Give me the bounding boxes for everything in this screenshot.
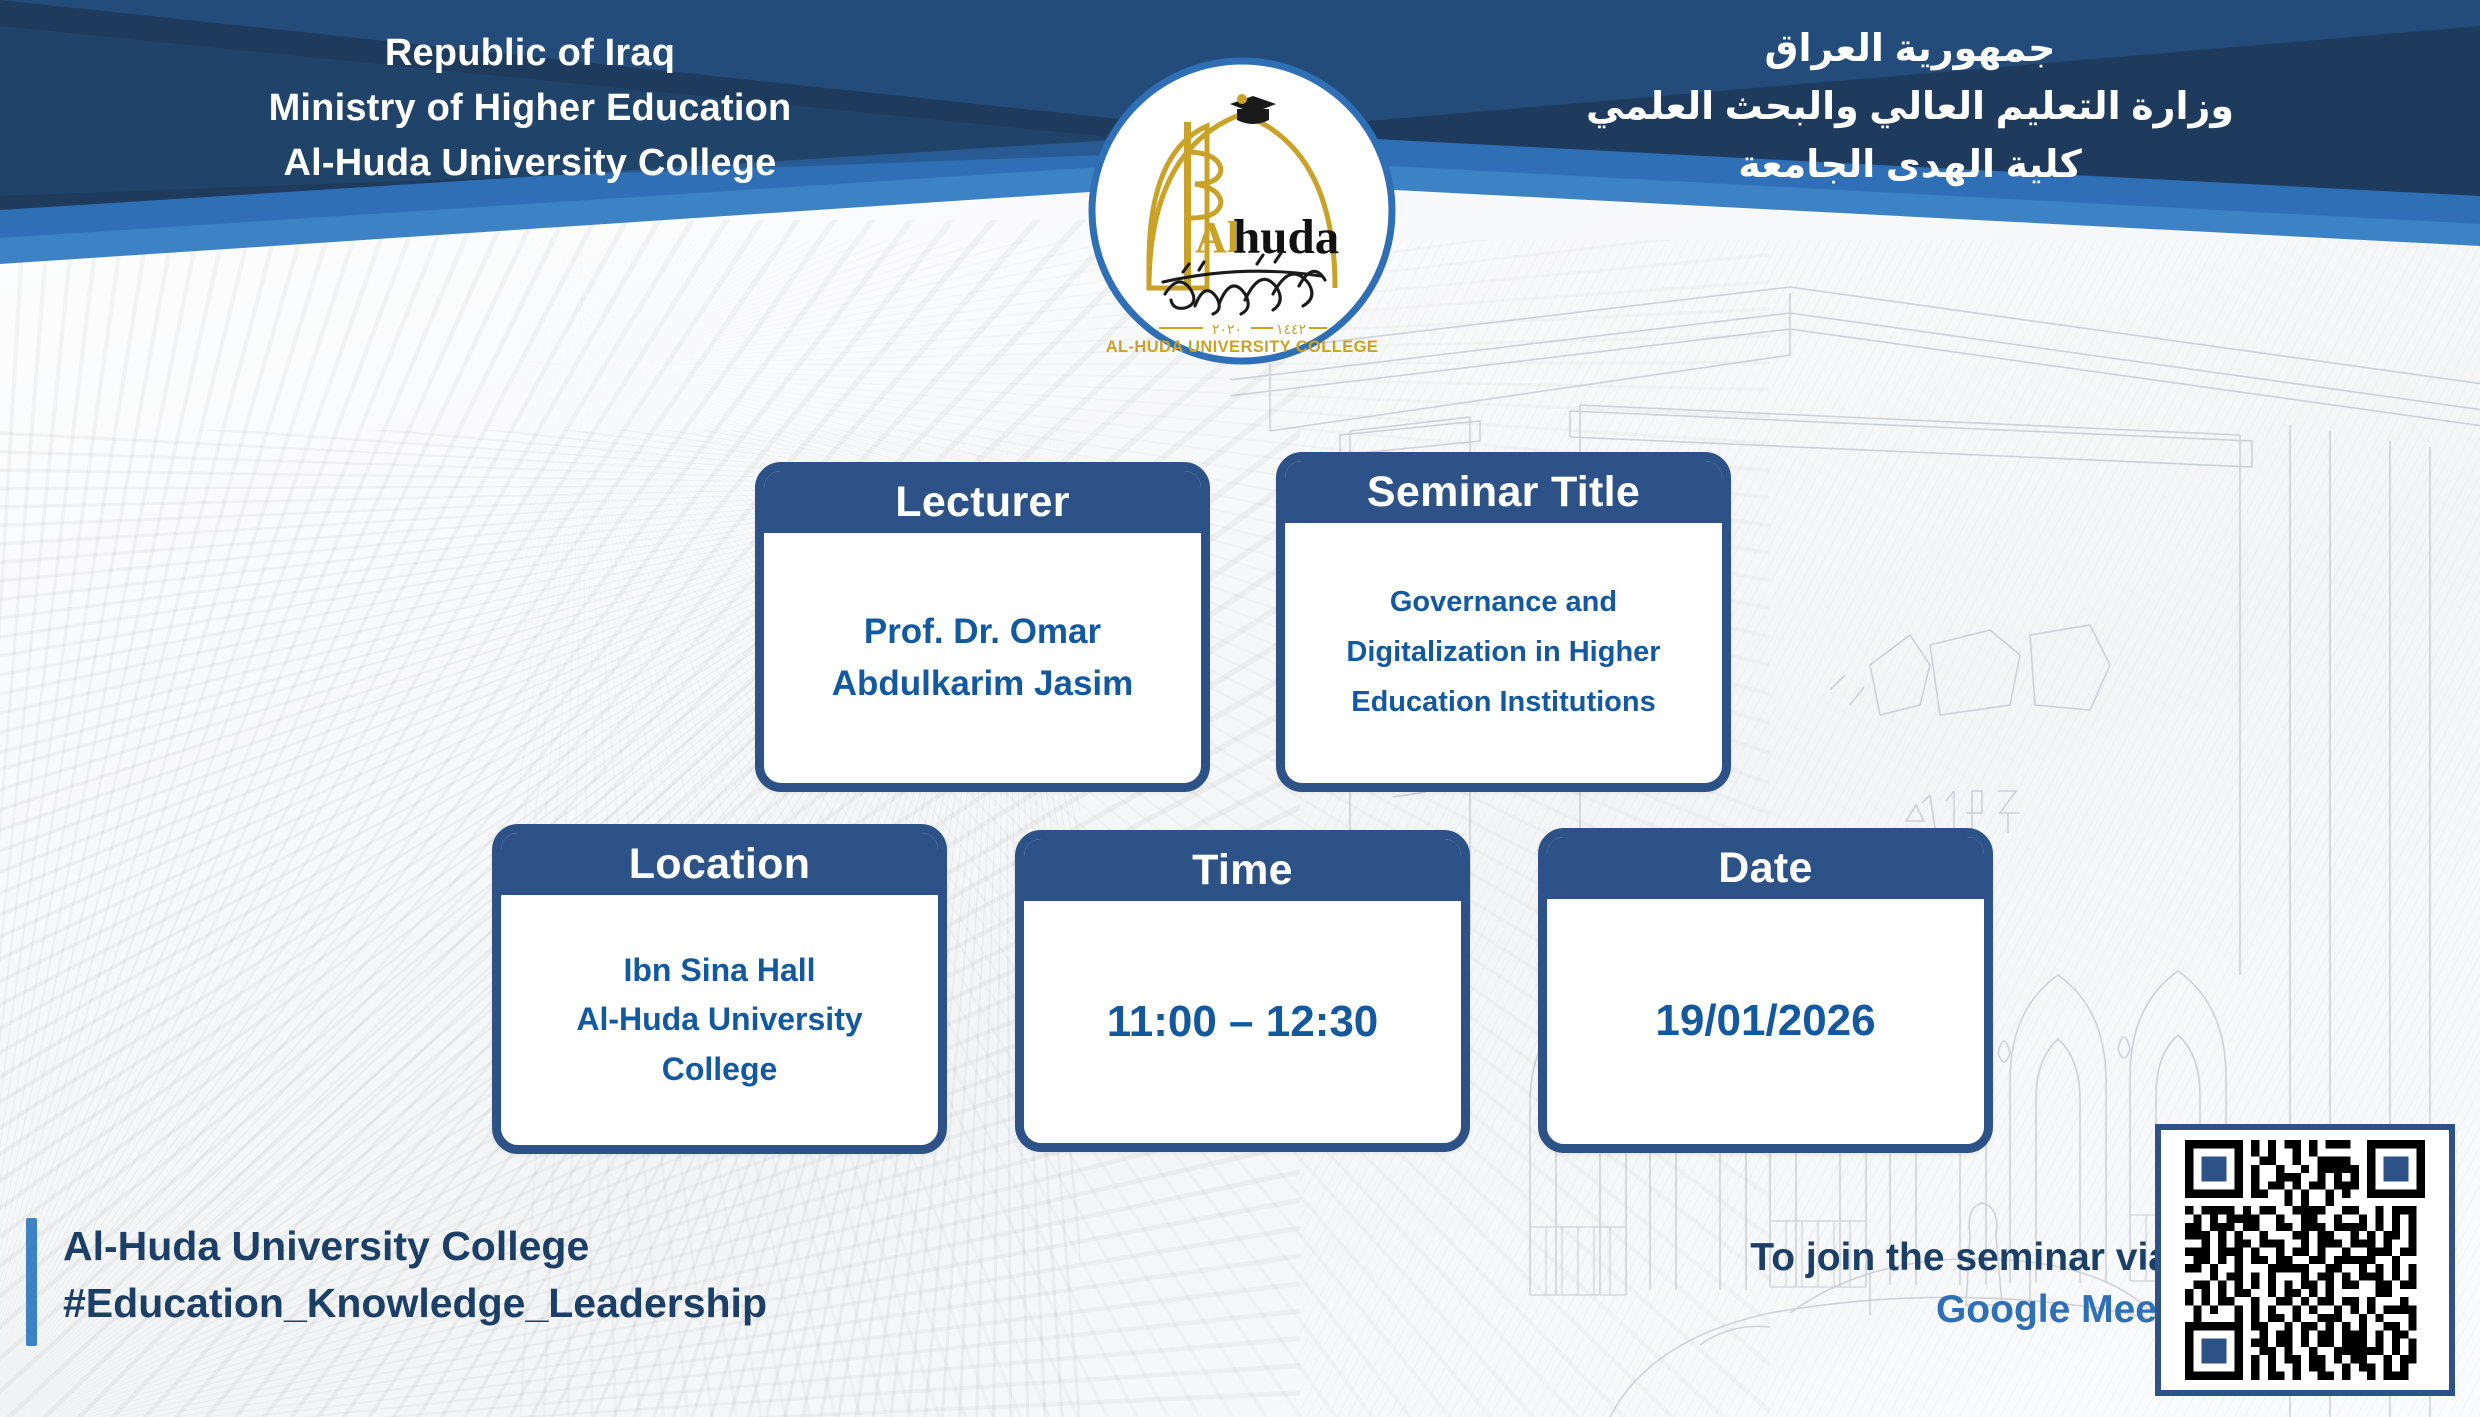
card-time-title: Time (1024, 839, 1461, 901)
card-lecturer-title: Lecturer (764, 471, 1201, 533)
card-lecturer-line-1: Prof. Dr. Omar (832, 606, 1134, 659)
card-location-title: Location (501, 833, 938, 895)
card-location: Location Ibn Sina Hall Al-Huda Universit… (492, 824, 947, 1154)
logo-subtitle: AL-HUDA UNIVERSITY COLLEGE (1106, 338, 1379, 356)
join-line-1: To join the seminar via (1470, 1232, 2170, 1284)
card-seminar-title: Seminar Title Governance and Digitalizat… (1276, 452, 1731, 792)
card-seminar-line-3: Education Institutions (1346, 678, 1660, 728)
footer-college-name: Al-Huda University College (63, 1218, 767, 1275)
card-date: Date 19/01/2026 (1538, 828, 1993, 1153)
header-english-line-1: Republic of Iraq (120, 34, 940, 73)
card-seminar-line-1: Governance and (1346, 578, 1660, 628)
card-location-body: Ibn Sina Hall Al-Huda University College (501, 895, 938, 1145)
logo-year-gregorian: ٢٠٢٠ (1212, 322, 1242, 338)
poster-canvas: Republic of Iraq Ministry of Higher Educ… (0, 0, 2480, 1417)
header-arabic-line-3: كلية الهدى الجامعة (1460, 146, 2360, 186)
card-date-value: 19/01/2026 (1655, 990, 1875, 1052)
footer-branding: Al-Huda University College #Education_Kn… (26, 1218, 926, 1358)
google-meet-qr-code[interactable] (2155, 1124, 2455, 1396)
card-date-title: Date (1547, 837, 1984, 899)
card-lecturer-line-2: Abdulkarim Jasim (832, 658, 1134, 711)
header-arabic-line-1: جمهورية العراق (1460, 30, 2360, 70)
card-lecturer: Lecturer Prof. Dr. Omar Abdulkarim Jasim (755, 462, 1210, 792)
header-arabic-block: جمهورية العراق وزارة التعليم العالي والب… (1460, 30, 2360, 204)
card-seminar-body: Governance and Digitalization in Higher … (1285, 523, 1722, 783)
header-english-block: Republic of Iraq Ministry of Higher Educ… (120, 34, 940, 198)
card-time-value: 11:00 – 12:30 (1107, 991, 1379, 1053)
card-location-line-2: Al-Huda University (576, 995, 862, 1045)
card-time-body: 11:00 – 12:30 (1024, 901, 1461, 1143)
header-english-line-2: Ministry of Higher Education (120, 89, 940, 128)
footer-accent-bar (26, 1218, 37, 1346)
card-time: Time 11:00 – 12:30 (1015, 830, 1470, 1152)
footer-hashtag: #Education_Knowledge_Leadership (63, 1275, 767, 1332)
card-seminar-title-heading: Seminar Title (1285, 461, 1722, 523)
card-seminar-line-2: Digitalization in Higher (1346, 628, 1660, 678)
join-line-2: Google Meet (1470, 1284, 2170, 1336)
card-location-line-1: Ibn Sina Hall (576, 946, 862, 996)
header-english-line-3: Al-Huda University College (120, 144, 940, 183)
card-date-body: 19/01/2026 (1547, 899, 1984, 1144)
card-lecturer-body: Prof. Dr. Omar Abdulkarim Jasim (764, 533, 1201, 783)
card-location-line-3: College (576, 1045, 862, 1095)
logo-wordmark-huda: huda (1233, 209, 1339, 264)
university-logo: Al huda ٢٠٢٠ ١٤٤٢ AL-HUDA UNIVERSIT (1087, 56, 1397, 366)
footer-text-block: Al-Huda University College #Education_Kn… (63, 1218, 767, 1331)
header-arabic-line-2: وزارة التعليم العالي والبحث العلمي (1460, 88, 2360, 128)
join-instructions: To join the seminar via Google Meet (1470, 1232, 2170, 1336)
logo-year-hijri: ١٤٤٢ (1276, 322, 1306, 338)
